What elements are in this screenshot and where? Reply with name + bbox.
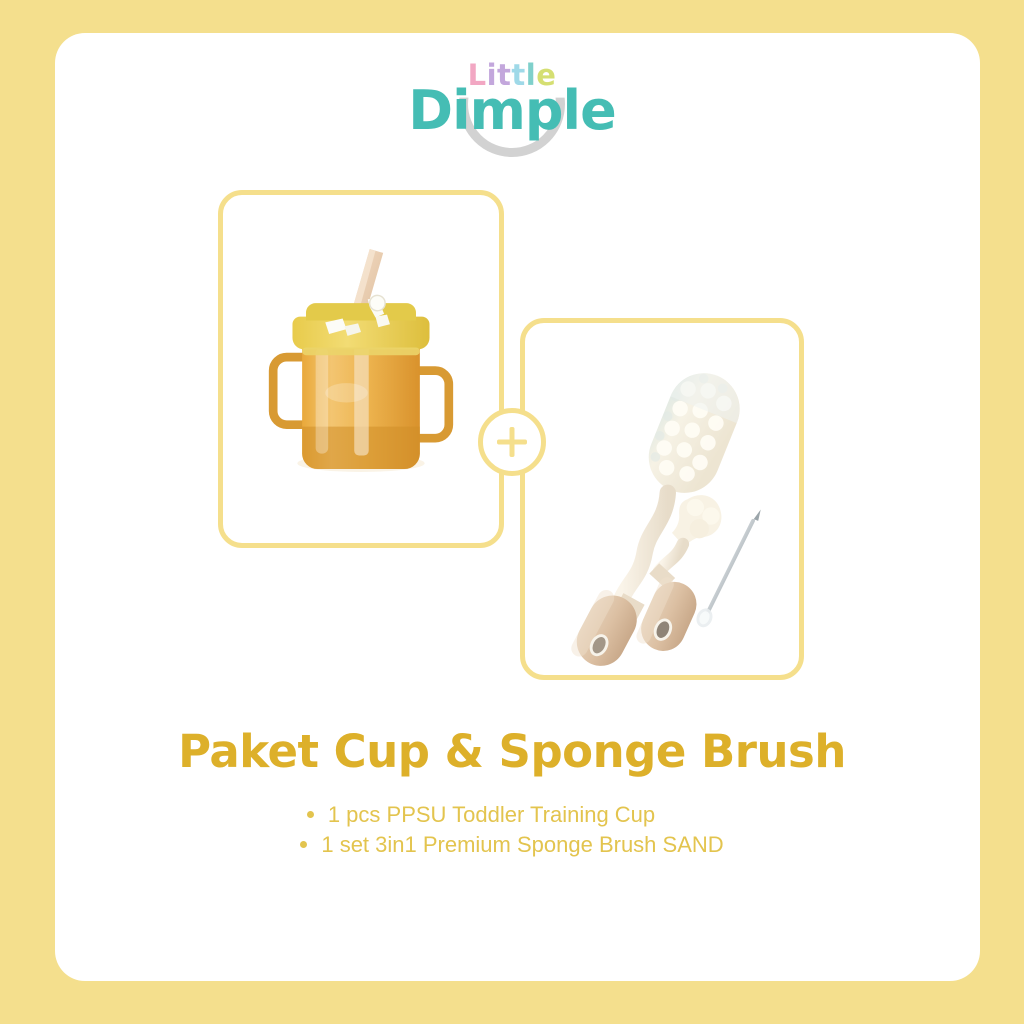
sponge-brush-icon bbox=[525, 323, 799, 672]
bullet-dot-icon bbox=[300, 841, 307, 848]
promo-canvas: Little Dimple bbox=[0, 0, 1024, 1024]
page-title: Paket Cup & Sponge Brush bbox=[0, 725, 1024, 778]
training-cup-icon bbox=[223, 195, 499, 540]
product-card-brush[interactable] bbox=[520, 318, 804, 680]
plus-badge-icon bbox=[478, 408, 546, 476]
list-item-label: 1 pcs PPSU Toddler Training Cup bbox=[328, 802, 655, 827]
package-contents-list: 1 pcs PPSU Toddler Training Cup 1 set 3i… bbox=[0, 800, 1024, 860]
bullet-dot-icon bbox=[307, 811, 314, 818]
list-item: 1 pcs PPSU Toddler Training Cup bbox=[0, 800, 1024, 830]
list-item: 1 set 3in1 Premium Sponge Brush SAND bbox=[0, 830, 1024, 860]
product-card-cup[interactable] bbox=[218, 190, 504, 548]
list-item-label: 1 set 3in1 Premium Sponge Brush SAND bbox=[321, 832, 723, 857]
